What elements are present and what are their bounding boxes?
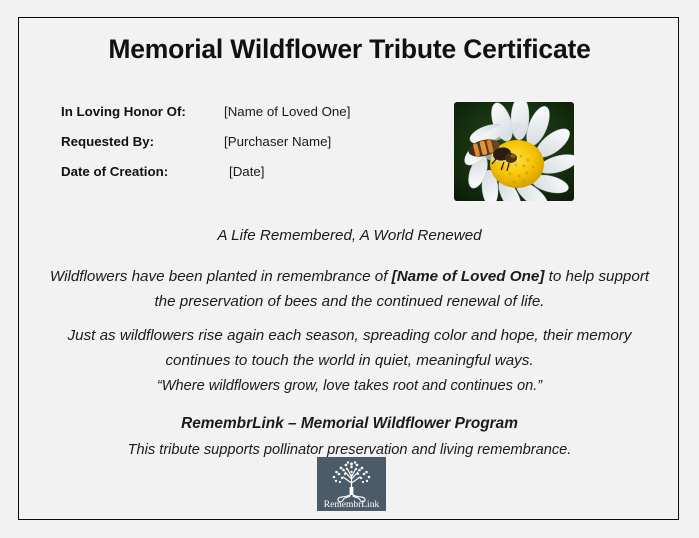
- detail-value-honoree: [Name of Loved One]: [224, 104, 350, 119]
- certificate-details: In Loving Honor Of: [Name of Loved One] …: [61, 104, 451, 194]
- remembrlink-logo: RemembrLink: [317, 457, 386, 511]
- closing-line: This tribute supports pollinator preserv…: [39, 428, 660, 458]
- detail-value-requester: [Purchaser Name]: [224, 134, 331, 149]
- detail-label-date: Date of Creation:: [61, 164, 224, 179]
- logo-wordmark: RemembrLink: [324, 500, 380, 510]
- certificate-paragraph-one: Wildflowers have been planted in remembr…: [39, 264, 660, 314]
- certificate-paragraph-two: Just as wildflowers rise again each seas…: [39, 323, 660, 373]
- paragraph-one-highlight: [Name of Loved One]: [392, 268, 545, 285]
- detail-row-date: Date of Creation: [Date]: [61, 164, 451, 194]
- certificate-tagline: A Life Remembered, A World Renewed: [39, 227, 660, 244]
- paragraph-one-before: Wildflowers have been planted in remembr…: [50, 268, 392, 285]
- detail-row-honoree: In Loving Honor Of: [Name of Loved One]: [61, 104, 451, 134]
- certificate-quote: “Where wildflowers grow, love takes root…: [39, 378, 660, 394]
- detail-label-requester: Requested By:: [61, 134, 224, 149]
- detail-value-date: [Date]: [224, 164, 264, 179]
- detail-label-honoree: In Loving Honor Of:: [61, 104, 224, 119]
- certificate-title: Memorial Wildflower Tribute Certificate: [19, 34, 680, 65]
- detail-row-requester: Requested By: [Purchaser Name]: [61, 134, 451, 164]
- bee-on-daisy-photo: [454, 102, 574, 201]
- certificate-card: Memorial Wildflower Tribute Certificate …: [18, 17, 679, 520]
